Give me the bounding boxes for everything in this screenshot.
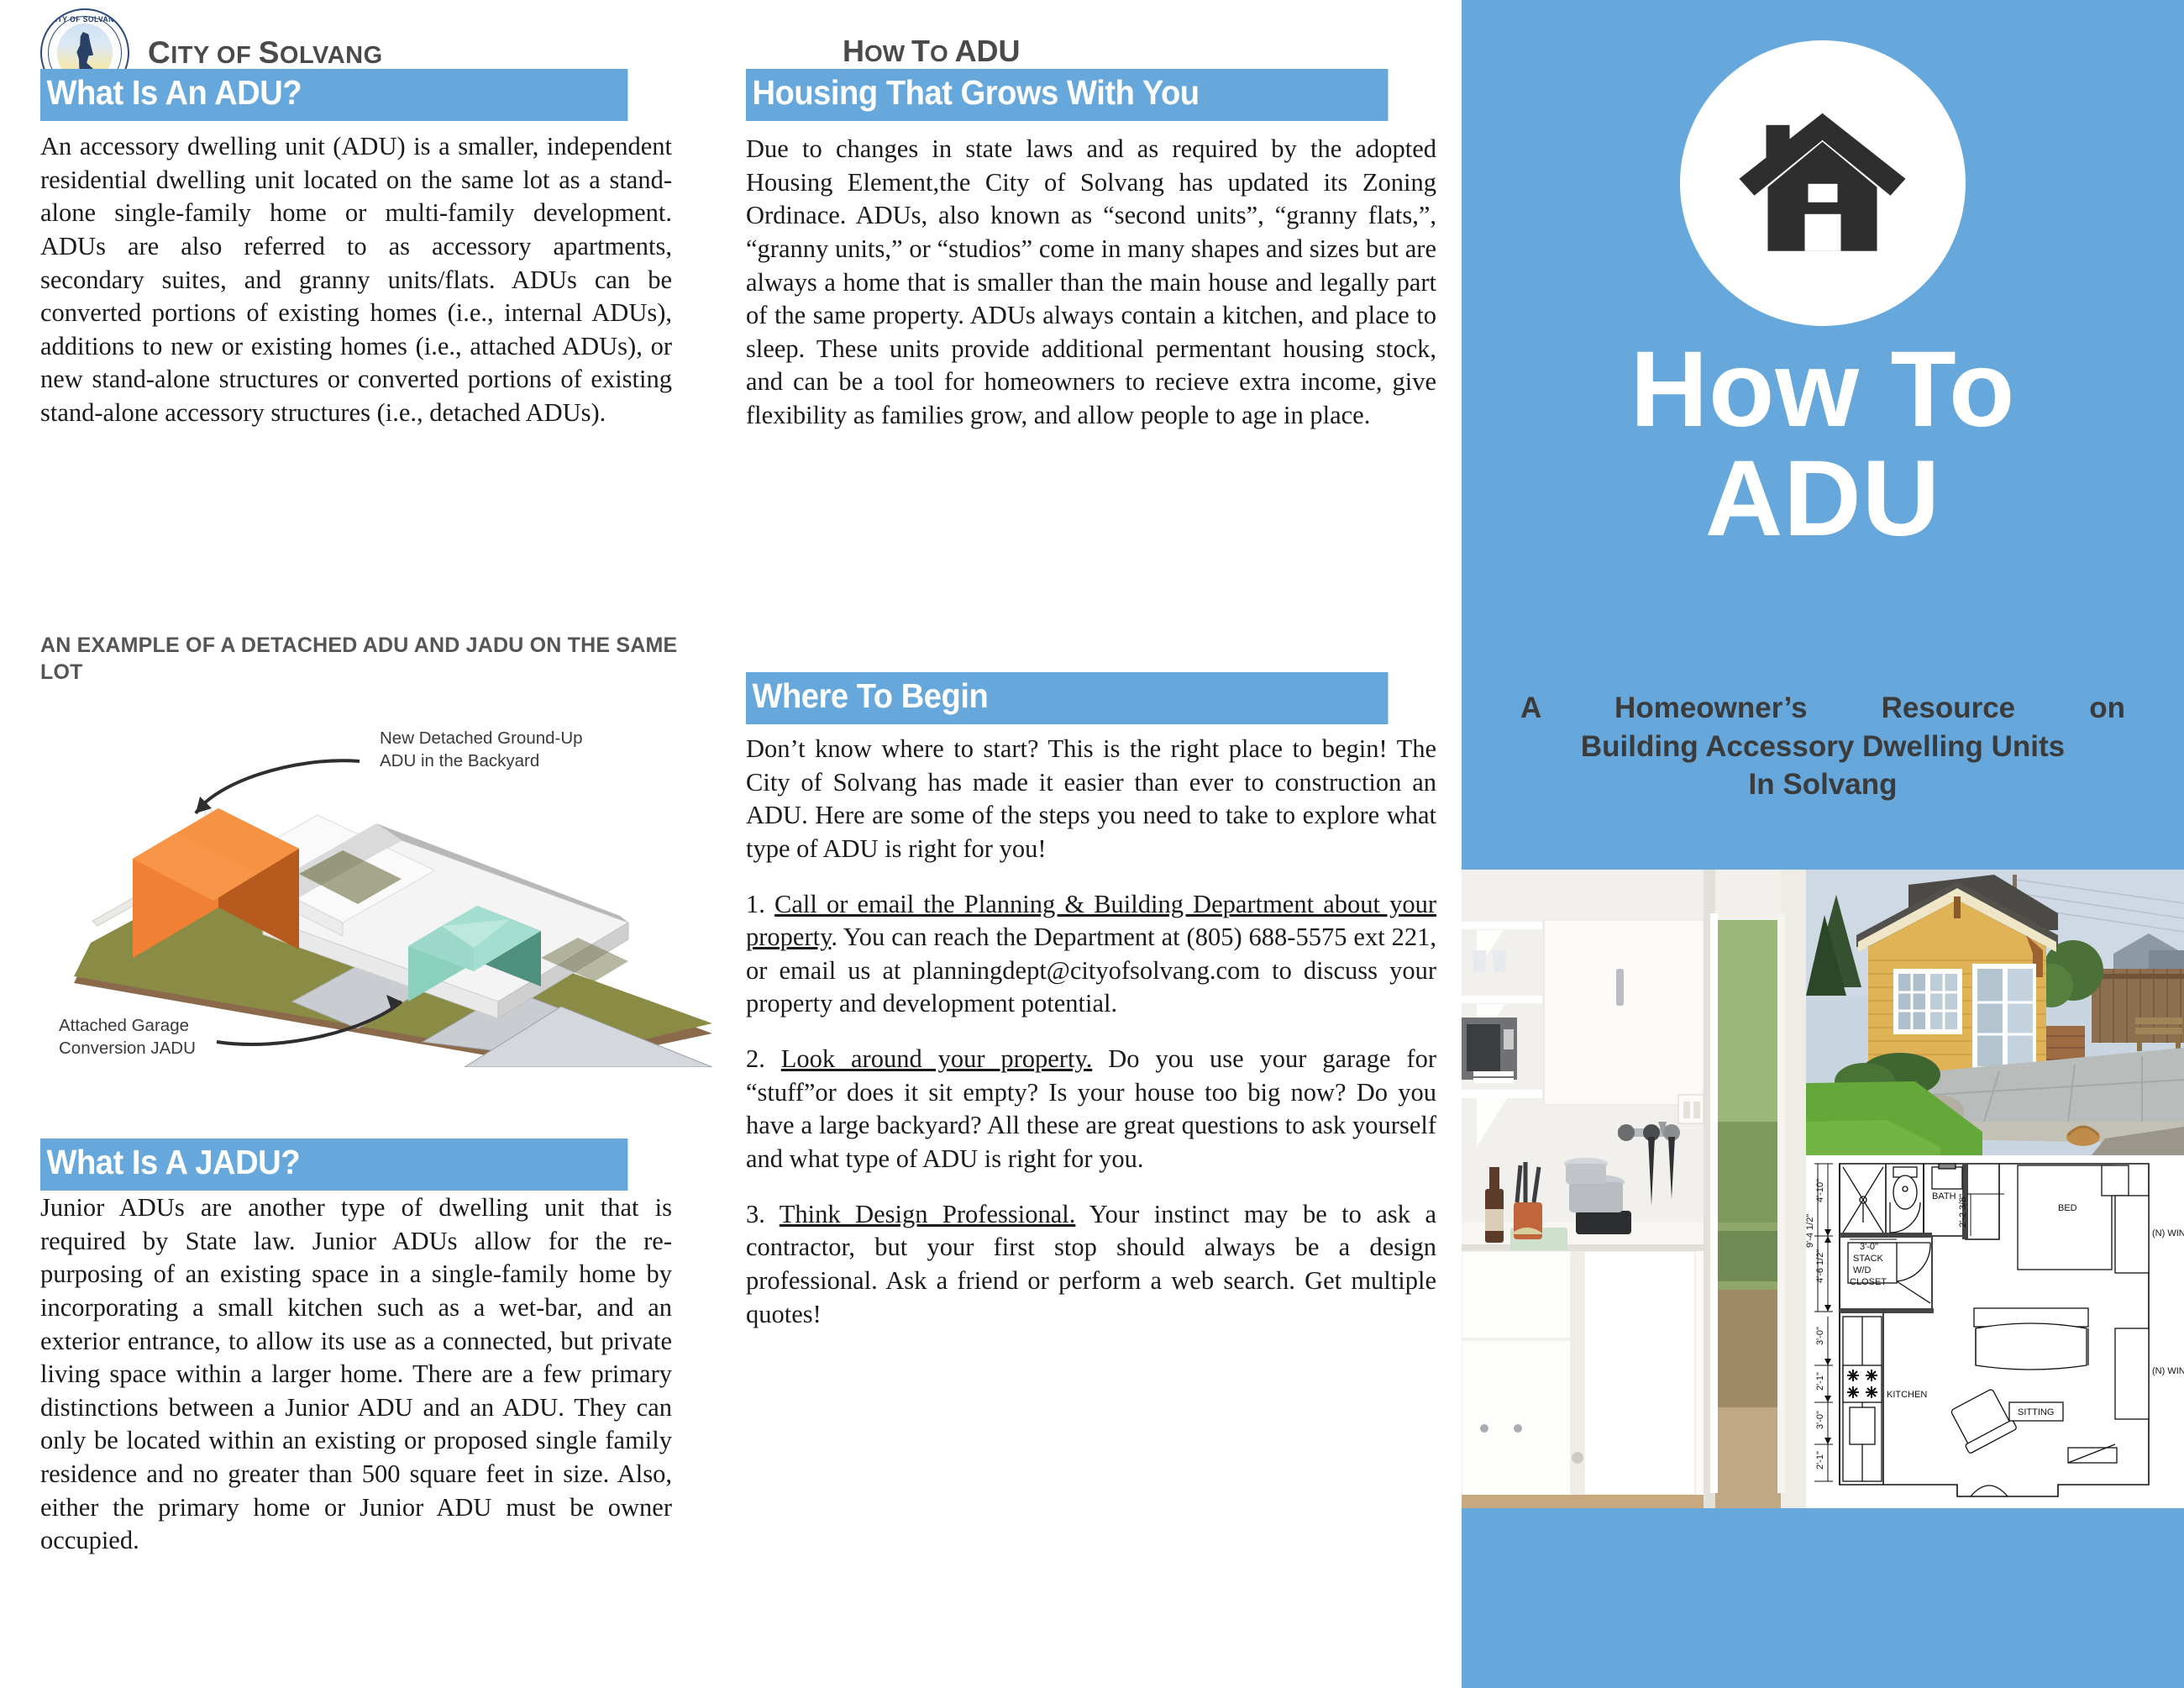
photo-collage: BED SITTING KITCHEN BATH STACK W/D CLOSE…	[1462, 870, 2184, 1508]
floorplan-photo: BED SITTING KITCHEN BATH STACK W/D CLOSE…	[1806, 1155, 2184, 1508]
diagram-label-jadu-line1: Attached Garage	[59, 1015, 196, 1038]
heading-what-is-a-jadu: What Is A JADU?	[40, 1138, 627, 1191]
paragraph-where-to-begin-intro: Don’t know where to start? This is the r…	[746, 733, 1436, 866]
floorplan-label-window-2: (N) WINDOW	[2152, 1366, 2184, 1376]
floorplan-label-sitting: SITTING	[2018, 1407, 2054, 1417]
lot-diagram: New Detached Ground-Up ADU in the Backya…	[40, 706, 712, 1067]
cover-title-line1: How To	[1462, 336, 2184, 444]
cover-subtitle-line1: A Homeowner’s Resource on	[1520, 689, 2125, 728]
floorplan-label-bed: BED	[2058, 1203, 2077, 1213]
floorplan-dim-e: 3'-0"	[1815, 1411, 1825, 1429]
floorplan-dim-a: 4'-10"	[1815, 1179, 1825, 1202]
floorplan-label-bath: BATH	[1932, 1191, 1956, 1202]
floorplan-label-stack: STACK	[1853, 1254, 1884, 1264]
diagram-label-adu-line2: ADU in the Backyard	[380, 750, 583, 773]
cover-subtitle-line3: In Solvang	[1520, 765, 2125, 804]
floorplan-dim-f: 2'-1"	[1815, 1451, 1825, 1470]
step-1-number: 1.	[746, 890, 765, 918]
diagram-label-jadu-line2: Conversion JADU	[59, 1038, 196, 1060]
lot-diagram-svg	[40, 706, 712, 1067]
floorplan-label-window-1: (N) WINDOW	[2152, 1228, 2184, 1238]
step-1-rest: . You can reach the Department at (805) …	[746, 923, 1436, 1018]
step-3-underlined: Think Design Professional.	[780, 1200, 1076, 1228]
how-to-adu-masthead: HOW TO ADU	[843, 34, 1021, 69]
city-of-solvang-title: CITY OF SOLVANG	[148, 35, 383, 71]
paragraph-what-is-an-adu: An accessory dwelling unit (ADU) is a sm…	[40, 130, 672, 430]
step-item-3: 3. Think Design Professional. Your insti…	[746, 1198, 1436, 1332]
floorplan-art: BED SITTING KITCHEN BATH STACK W/D CLOSE…	[1806, 1155, 2184, 1508]
brochure-inside-sheet: CITY OF SOLVANG PLANNING & BUILDING CITY…	[0, 0, 1462, 1688]
paragraph-housing-that-grows: Due to changes in state laws and as requ…	[746, 133, 1436, 433]
floorplan-dim-d: 2'-1"	[1815, 1372, 1825, 1391]
cover-subtitle: A Homeowner’s Resource on Building Acces…	[1520, 689, 2125, 804]
diagram-label-new-detached-adu: New Detached Ground-Up ADU in the Backya…	[380, 728, 583, 772]
heading-housing-that-grows-with-you: Housing That Grows With You	[746, 69, 1388, 121]
house-icon	[1733, 107, 1914, 266]
floorplan-dim-bath: 2'-2 3/8"	[1958, 1194, 1968, 1228]
floorplan-dim-b: 4'-6 1/2"	[1815, 1249, 1825, 1283]
cover-subtitle-line2: Building Accessory Dwelling Units	[1520, 728, 2125, 766]
floorplan-label-wd: W/D	[1853, 1265, 1871, 1275]
kitchen-photo	[1462, 870, 1806, 1508]
seal-top-text: CITY OF SOLVANG	[50, 15, 120, 24]
diagram-label-attached-garage-jadu: Attached Garage Conversion JADU	[59, 1015, 196, 1060]
floorplan-dim-c: 3'-0"	[1815, 1327, 1825, 1345]
heading-what-is-an-adu: What Is An ADU?	[40, 69, 627, 121]
cottage-photo-art	[1806, 870, 2184, 1155]
diagram-caption: AN EXAMPLE OF A DETACHED ADU AND JADU ON…	[40, 632, 679, 686]
floorplan-label-closet: CLOSET	[1850, 1277, 1887, 1287]
paragraph-what-is-a-jadu: Junior ADUs are another type of dwelling…	[40, 1191, 672, 1558]
step-item-1: 1. Call or email the Planning & Building…	[746, 888, 1436, 1022]
floorplan-label-kitchen: KITCHEN	[1887, 1390, 1927, 1400]
cottage-photo	[1806, 870, 2184, 1155]
floorplan-dim-door: 3'-0"	[1860, 1242, 1878, 1252]
floorplan-dim-total: 9'-4 1/2"	[1806, 1214, 1815, 1248]
cover-title-line2: ADU	[1462, 445, 2184, 553]
step-item-2: 2. Look around your property. Do you use…	[746, 1043, 1436, 1176]
kitchen-photo-art	[1462, 870, 1806, 1508]
heading-where-to-begin: Where To Begin	[746, 672, 1388, 724]
logo-circle	[1680, 40, 1966, 326]
step-2-underlined: Look around your property.	[781, 1044, 1093, 1073]
step-3-number: 3.	[746, 1200, 765, 1228]
step-2-number: 2.	[746, 1044, 765, 1073]
diagram-label-adu-line1: New Detached Ground-Up	[380, 728, 583, 750]
